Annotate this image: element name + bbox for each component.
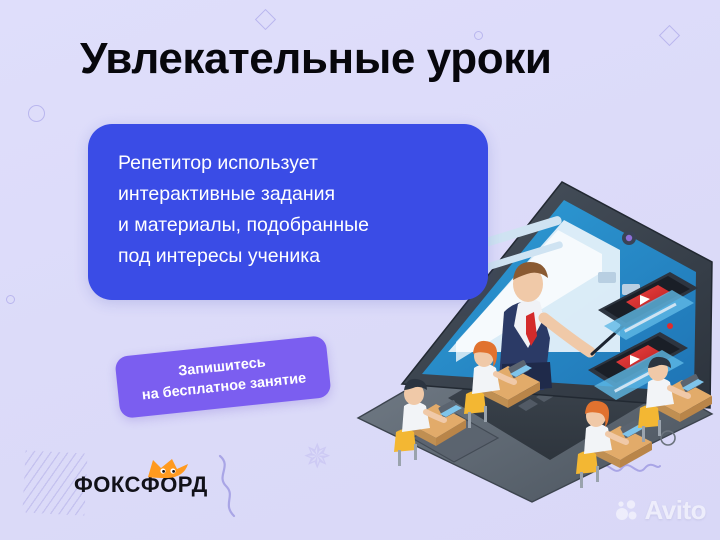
squiggle-decoration: [212, 452, 262, 522]
fox-icon: [144, 457, 192, 479]
circle-decoration: [6, 295, 15, 304]
diamond-decoration: [255, 9, 276, 30]
star-decoration: ✵: [303, 440, 332, 474]
info-card: Репетитор использует интерактивные задан…: [88, 124, 488, 300]
diamond-decoration: [659, 25, 680, 46]
avito-wordmark: Avito: [644, 495, 706, 526]
poster-canvas: ✵ Увлекательные уроки: [0, 0, 720, 540]
cta-badge[interactable]: Запишитесь на бесплатное занятие: [114, 335, 331, 419]
brand-logo: ФОКСФОРД: [74, 472, 208, 498]
circle-decoration: [28, 105, 45, 122]
avito-logo-icon: [615, 499, 639, 523]
info-card-text: Репетитор использует интерактивные задан…: [118, 148, 478, 272]
page-title: Увлекательные уроки: [80, 34, 551, 84]
cta-badge-text: Запишитесь на бесплатное занятие: [114, 335, 331, 419]
avito-watermark: Avito: [615, 495, 706, 526]
